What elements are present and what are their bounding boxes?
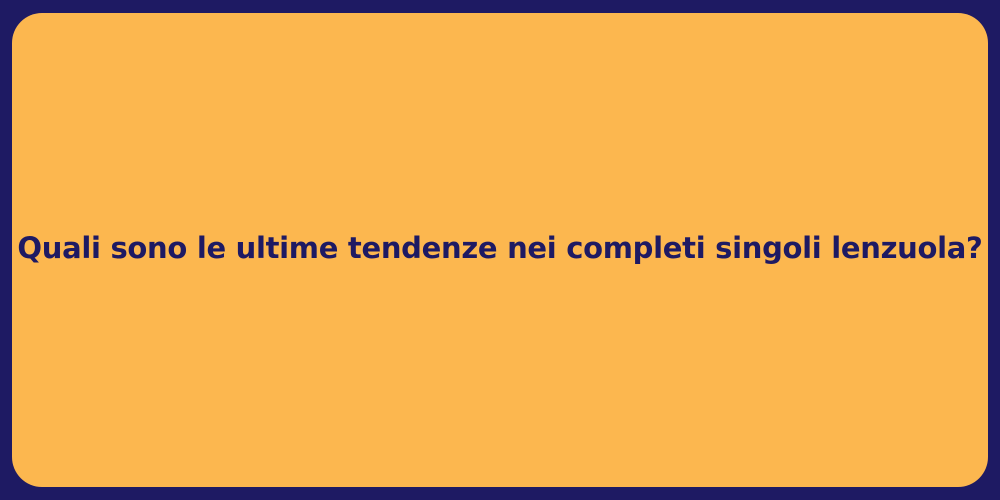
card-frame: Quali sono le ultime tendenze nei comple… (0, 0, 1000, 500)
headline-question: Quali sono le ultime tendenze nei comple… (12, 230, 988, 266)
card-panel: Quali sono le ultime tendenze nei comple… (12, 13, 988, 487)
